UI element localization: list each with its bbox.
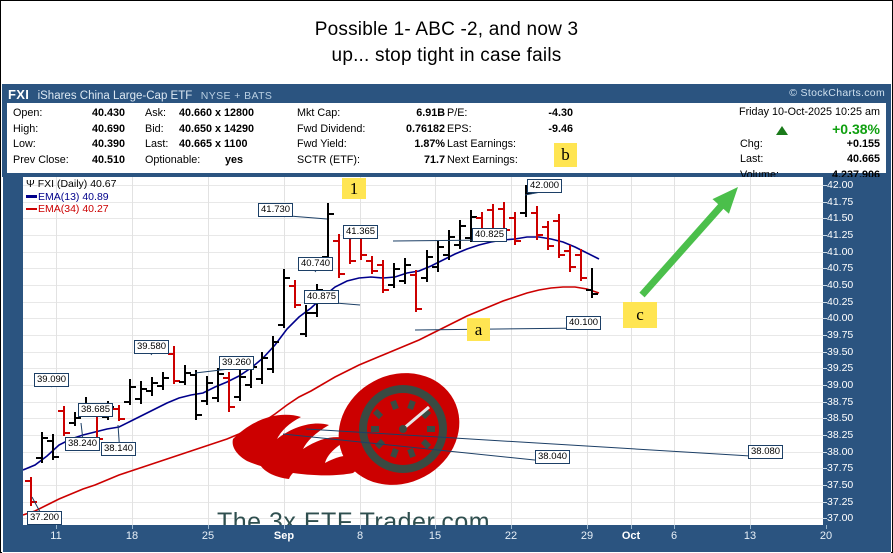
x-axis-tick-mark xyxy=(208,525,209,529)
x-axis-tick-mark xyxy=(631,525,632,529)
quote-row: EPS:-9.46 xyxy=(447,122,573,138)
x-axis-tick-mark xyxy=(56,525,57,529)
y-axis-tick-label: 41.50 xyxy=(827,212,853,224)
quote-summary-row: Last:40.665 xyxy=(739,152,880,168)
change-percent: +0.38% xyxy=(832,121,880,137)
quote-row: SCTR (ETF):71.7 xyxy=(297,153,445,169)
x-axis-tick-mark xyxy=(750,525,751,529)
y-axis-tick-mark xyxy=(823,418,827,419)
y-axis-tick-label: 41.75 xyxy=(827,196,853,208)
x-axis-tick-mark xyxy=(826,525,827,529)
quote-row: Optionable:yes xyxy=(145,153,289,169)
quote-value: 1.87% xyxy=(389,137,445,153)
chart-annotation-title: Possible 1- ABC -2, and now 3 up... stop… xyxy=(2,2,891,84)
quote-value: -4.30 xyxy=(533,106,573,122)
y-axis-tick-label: 38.50 xyxy=(827,412,853,424)
quote-label: Prev Close: xyxy=(13,153,73,169)
y-axis-tick-label: 39.25 xyxy=(827,362,853,374)
quote-row: Last:40.665 x 1100 xyxy=(145,137,289,153)
quote-label: Bid: xyxy=(145,122,179,138)
x-axis-tick-label: 15 xyxy=(429,530,441,542)
quote-label: Low: xyxy=(13,137,73,153)
x-axis-tick-label: 6 xyxy=(671,530,677,542)
x-axis-tick-label: Oct xyxy=(622,530,640,542)
y-axis-tick-label: 37.00 xyxy=(827,512,853,524)
quote-datetime: Friday 10-Oct-2025 10:25 am xyxy=(739,105,880,121)
y-axis-tick-label: 37.50 xyxy=(827,479,853,491)
quote-column-bidask: Ask:40.660 x 12800Bid:40.650 x 14290Last… xyxy=(145,106,289,168)
quote-header: FXI iShares China Large-Cap ETF NYSE + B… xyxy=(2,84,891,177)
quote-change-row: +0.38% xyxy=(739,121,880,137)
x-axis-tick-mark xyxy=(587,525,588,529)
y-axis-tick-label: 42.00 xyxy=(827,179,853,191)
quote-value: 40.665 x 1100 xyxy=(179,137,289,153)
x-axis-tick-mark xyxy=(435,525,436,529)
y-axis-tick-label: 40.00 xyxy=(827,312,853,324)
x-axis-tick-label: 29 xyxy=(581,530,593,542)
y-axis-tick-label: 37.25 xyxy=(827,496,853,508)
quote-value: +0.155 xyxy=(810,137,880,153)
quote-right-panel: Friday 10-Oct-2025 10:25 am +0.38% Chg:+… xyxy=(739,105,880,183)
projection-arrow xyxy=(23,177,823,525)
quote-label: Chg: xyxy=(740,137,810,153)
quote-value: 40.650 x 14290 xyxy=(179,122,289,138)
y-axis-tick-label: 41.00 xyxy=(827,246,853,258)
y-axis-tick-mark xyxy=(823,318,827,319)
quote-row: Fwd Yield:1.87% xyxy=(297,137,445,153)
y-axis-tick-label: 38.00 xyxy=(827,446,853,458)
quote-value: 40.660 x 12800 xyxy=(179,106,289,122)
y-axis-tick-mark xyxy=(823,185,827,186)
y-axis-tick-label: 40.25 xyxy=(827,296,853,308)
x-axis-tick-label: 18 xyxy=(126,530,138,542)
quote-label: Optionable: xyxy=(145,153,179,169)
quote-value: 0.76182 xyxy=(389,122,445,138)
quote-row: Mkt Cap:6.91B xyxy=(297,106,445,122)
quote-column-fundamentals: Mkt Cap:6.91BFwd Dividend:0.76182Fwd Yie… xyxy=(297,106,445,168)
y-axis-tick-mark xyxy=(823,502,827,503)
x-axis-tick-mark xyxy=(284,525,285,529)
y-axis-tick-mark xyxy=(823,485,827,486)
annotation-title-line2: up... stop tight in case fails xyxy=(332,43,562,69)
y-axis-tick-mark xyxy=(823,202,827,203)
y-axis-tick-label: 37.75 xyxy=(827,462,853,474)
quote-value: 40.430 xyxy=(73,106,125,122)
y-axis-tick-mark xyxy=(823,302,827,303)
quote-value: 71.7 xyxy=(389,153,445,169)
y-axis-tick-mark xyxy=(823,235,827,236)
x-axis-tick-label: 22 xyxy=(505,530,517,542)
chart-plot-area[interactable]: Ψ FXI (Daily) 40.67 EMA(13) 40.89 EMA(34… xyxy=(23,177,823,525)
x-axis-tick-label: 25 xyxy=(202,530,214,542)
y-axis-tick-mark xyxy=(823,368,827,369)
quote-value: yes xyxy=(179,153,289,169)
quote-row: Open:40.430 xyxy=(13,106,125,122)
x-axis-tick-label: 20 xyxy=(820,530,832,542)
quote-value: 40.510 xyxy=(73,153,125,169)
y-axis-tick-mark xyxy=(823,218,827,219)
ticker-symbol: FXI xyxy=(8,87,29,102)
quote-label: Last: xyxy=(145,137,179,153)
y-axis-tick-mark xyxy=(823,468,827,469)
quote-label: Next Earnings: xyxy=(447,153,533,169)
quote-column-ohlc: Open:40.430High:40.690Low:40.390Prev Clo… xyxy=(13,106,125,168)
quote-data-box: Open:40.430High:40.690Low:40.390Prev Clo… xyxy=(7,103,886,173)
y-axis-tick-label: 40.50 xyxy=(827,279,853,291)
quote-summary-row: Chg:+0.155 xyxy=(739,137,880,153)
quote-value: 40.690 xyxy=(73,122,125,138)
quote-value: -9.46 xyxy=(533,122,573,138)
x-axis-tick-label: Sep xyxy=(274,530,294,542)
y-axis-tick-label: 39.50 xyxy=(827,346,853,358)
stockcharts-brand: © StockCharts.com xyxy=(789,87,885,99)
y-axis-tick-mark xyxy=(823,385,827,386)
quote-row: Bid:40.650 x 14290 xyxy=(145,122,289,138)
chart-left-band xyxy=(3,177,23,525)
x-axis-tick-mark xyxy=(674,525,675,529)
y-axis-tick-label: 40.75 xyxy=(827,262,853,274)
y-axis-tick-mark xyxy=(823,252,827,253)
quote-label: Fwd Dividend: xyxy=(297,122,389,138)
x-axis-tick-label: 11 xyxy=(50,530,61,542)
quote-value: 40.390 xyxy=(73,137,125,153)
quote-label: Last Earnings: xyxy=(447,137,533,153)
symbol-row: FXI iShares China Large-Cap ETF NYSE + B… xyxy=(8,86,272,102)
y-axis: 42.0041.7541.5041.2541.0040.7540.5040.25… xyxy=(823,177,891,525)
quote-row: High:40.690 xyxy=(13,122,125,138)
security-name: iShares China Large-Cap ETF xyxy=(38,90,193,102)
y-axis-tick-label: 38.75 xyxy=(827,396,853,408)
y-axis-tick-mark xyxy=(823,435,827,436)
x-axis-tick-mark xyxy=(132,525,133,529)
y-axis-tick-label: 39.75 xyxy=(827,329,853,341)
y-axis-tick-mark xyxy=(823,518,827,519)
quote-value: 40.665 xyxy=(810,152,880,168)
y-axis-tick-label: 41.25 xyxy=(827,229,853,241)
triangle-up-icon xyxy=(776,126,788,135)
x-axis-tick-mark xyxy=(360,525,361,529)
quote-value: 6.91B xyxy=(389,106,445,122)
quote-label: Last: xyxy=(740,152,810,168)
quote-row: Low:40.390 xyxy=(13,137,125,153)
quote-label: SCTR (ETF): xyxy=(297,153,389,169)
x-axis-tick-label: 8 xyxy=(357,530,363,542)
stockcharts-screenshot: Possible 1- ABC -2, and now 3 up... stop… xyxy=(0,0,893,553)
wave-annotation-b: b xyxy=(554,143,577,167)
exchange-label: NYSE + BATS xyxy=(201,90,273,102)
y-axis-tick-mark xyxy=(823,285,827,286)
x-axis-tick-mark xyxy=(511,525,512,529)
annotation-title-line1: Possible 1- ABC -2, and now 3 xyxy=(315,17,579,43)
quote-label: High: xyxy=(13,122,73,138)
y-axis-tick-mark xyxy=(823,352,827,353)
price-chart-panel: Ψ FXI (Daily) 40.67 EMA(13) 40.89 EMA(34… xyxy=(2,177,891,553)
quote-label: Ask: xyxy=(145,106,179,122)
quote-row: Ask:40.660 x 12800 xyxy=(145,106,289,122)
x-axis-tick-label: 13 xyxy=(744,530,756,542)
y-axis-tick-label: 38.25 xyxy=(827,429,853,441)
x-axis: 111825Sep8152229Oct6132027 xyxy=(3,525,891,552)
quote-label: Fwd Yield: xyxy=(297,137,389,153)
quote-row: P/E:-4.30 xyxy=(447,106,573,122)
y-axis-tick-mark xyxy=(823,335,827,336)
y-axis-tick-mark xyxy=(823,268,827,269)
y-axis-tick-mark xyxy=(823,402,827,403)
quote-label: P/E: xyxy=(447,106,533,122)
y-axis-tick-mark xyxy=(823,452,827,453)
quote-label: Open: xyxy=(13,106,73,122)
y-axis-tick-label: 39.00 xyxy=(827,379,853,391)
quote-row: Fwd Dividend:0.76182 xyxy=(297,122,445,138)
quote-label: EPS: xyxy=(447,122,533,138)
quote-label: Mkt Cap: xyxy=(297,106,389,122)
quote-row: Prev Close:40.510 xyxy=(13,153,125,169)
